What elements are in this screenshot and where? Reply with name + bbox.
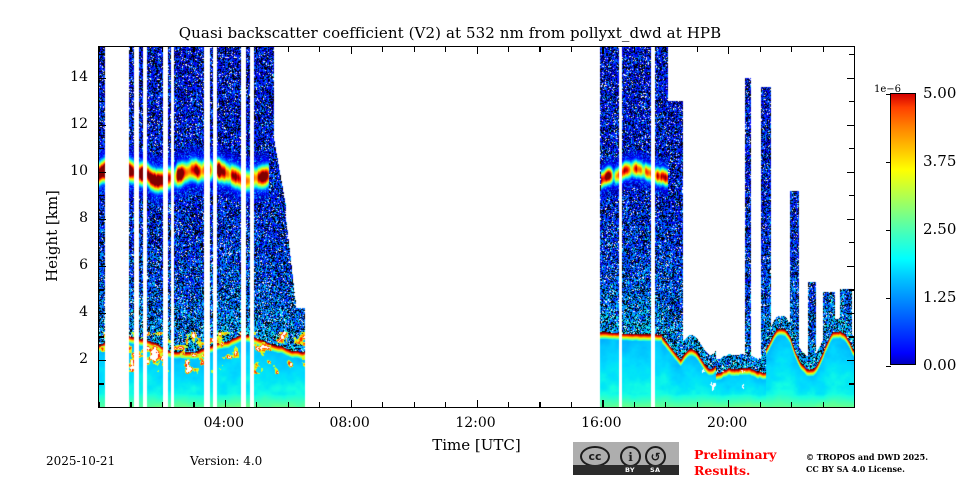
x-tick bbox=[823, 402, 824, 407]
y-tick bbox=[849, 289, 854, 290]
y-tick bbox=[849, 407, 854, 408]
cc-by-label: BY bbox=[625, 466, 635, 474]
y-tick-label: 12 bbox=[58, 116, 88, 132]
x-tick bbox=[634, 402, 635, 407]
x-tick bbox=[728, 400, 729, 407]
colorbar-tick-label: 2.50 bbox=[923, 220, 956, 238]
y-tick bbox=[849, 148, 854, 149]
x-tick bbox=[445, 402, 446, 407]
preliminary-results-notice: Preliminary Results. bbox=[694, 447, 804, 478]
x-tick-label: 12:00 bbox=[455, 415, 495, 431]
colorbar-tick-label: 3.75 bbox=[923, 152, 956, 170]
y-tick bbox=[99, 54, 104, 55]
x-tick bbox=[728, 47, 729, 54]
x-tick bbox=[351, 400, 352, 407]
colorbar-tick-label: 5.00 bbox=[923, 84, 956, 102]
x-tick bbox=[508, 47, 509, 52]
y-tick bbox=[99, 313, 106, 314]
y-tick bbox=[99, 101, 104, 102]
y-tick-label: 10 bbox=[58, 163, 88, 179]
x-tick-label: 08:00 bbox=[329, 415, 369, 431]
x-tick bbox=[760, 402, 761, 407]
copyright-notice: © TROPOS and DWD 2025. CC BY SA 4.0 Lice… bbox=[806, 452, 928, 475]
y-tick bbox=[849, 101, 854, 102]
x-tick bbox=[854, 402, 855, 407]
colorbar-tick bbox=[886, 366, 891, 367]
x-tick bbox=[162, 47, 163, 52]
x-tick bbox=[193, 47, 194, 52]
x-tick bbox=[445, 47, 446, 52]
copyright-line-1: © TROPOS and DWD 2025. bbox=[806, 452, 928, 464]
y-tick bbox=[849, 54, 854, 55]
y-tick bbox=[99, 407, 104, 408]
x-tick bbox=[225, 47, 226, 54]
y-tick bbox=[847, 125, 854, 126]
x-tick bbox=[602, 47, 603, 54]
creative-commons-icon: cc bbox=[580, 446, 610, 467]
x-tick-label: 04:00 bbox=[204, 415, 244, 431]
colorbar-tick bbox=[886, 298, 891, 299]
y-tick bbox=[849, 336, 854, 337]
y-tick bbox=[847, 219, 854, 220]
y-tick bbox=[99, 289, 104, 290]
x-tick bbox=[571, 47, 572, 52]
share-alike-icon: ↺ bbox=[645, 446, 666, 467]
y-tick bbox=[99, 242, 104, 243]
cc-sa-label: SA bbox=[650, 466, 660, 474]
y-tick bbox=[847, 360, 854, 361]
y-tick bbox=[849, 383, 854, 384]
x-tick bbox=[193, 402, 194, 407]
attribution-icon: ℹ bbox=[620, 446, 641, 467]
x-tick bbox=[571, 402, 572, 407]
y-tick-label: 4 bbox=[58, 304, 88, 320]
x-tick bbox=[288, 402, 289, 407]
y-tick bbox=[99, 219, 106, 220]
x-tick bbox=[382, 402, 383, 407]
y-tick bbox=[99, 148, 104, 149]
x-tick bbox=[319, 402, 320, 407]
x-tick bbox=[99, 47, 100, 52]
y-tick bbox=[847, 172, 854, 173]
y-tick bbox=[99, 360, 106, 361]
colorbar-tick bbox=[886, 230, 891, 231]
page-title: Quasi backscatter coefficient (V2) at 53… bbox=[0, 24, 900, 42]
y-tick bbox=[847, 313, 854, 314]
footer-date: 2025-10-21 bbox=[46, 454, 115, 468]
x-tick bbox=[539, 402, 540, 407]
y-tick bbox=[99, 172, 106, 173]
y-tick-label: 14 bbox=[58, 69, 88, 85]
y-tick bbox=[99, 336, 104, 337]
x-tick bbox=[162, 402, 163, 407]
y-tick-label: 6 bbox=[58, 257, 88, 273]
y-tick bbox=[849, 195, 854, 196]
x-tick bbox=[791, 47, 792, 52]
x-tick bbox=[602, 400, 603, 407]
x-tick bbox=[319, 47, 320, 52]
cc-badge-bar: BY SA bbox=[573, 465, 679, 475]
footer-version: Version: 4.0 bbox=[190, 454, 262, 468]
copyright-line-2: CC BY SA 4.0 License. bbox=[806, 464, 928, 476]
x-tick bbox=[225, 400, 226, 407]
y-tick-label: 8 bbox=[58, 210, 88, 226]
x-tick bbox=[414, 47, 415, 52]
heatmap-plot-area[interactable] bbox=[98, 46, 855, 408]
x-tick bbox=[130, 47, 131, 52]
x-tick bbox=[477, 400, 478, 407]
colorbar[interactable] bbox=[890, 93, 916, 365]
x-tick bbox=[414, 402, 415, 407]
x-tick bbox=[697, 47, 698, 52]
colorbar-tick-label: 0.00 bbox=[923, 356, 956, 374]
x-tick bbox=[791, 402, 792, 407]
x-tick bbox=[382, 47, 383, 52]
x-tick bbox=[130, 402, 131, 407]
lidar-quicklook-figure: Quasi backscatter coefficient (V2) at 53… bbox=[0, 0, 960, 480]
y-tick bbox=[847, 78, 854, 79]
y-tick bbox=[847, 266, 854, 267]
x-tick bbox=[854, 47, 855, 52]
x-tick-label: 20:00 bbox=[707, 415, 747, 431]
x-tick bbox=[760, 47, 761, 52]
y-tick bbox=[849, 242, 854, 243]
x-tick bbox=[665, 47, 666, 52]
y-tick bbox=[99, 266, 106, 267]
x-tick bbox=[697, 402, 698, 407]
x-tick bbox=[634, 47, 635, 52]
x-tick bbox=[508, 402, 509, 407]
x-tick bbox=[288, 47, 289, 52]
x-tick bbox=[539, 47, 540, 52]
colorbar-tick bbox=[886, 94, 891, 95]
x-tick bbox=[256, 402, 257, 407]
y-axis-title: Height [km] bbox=[43, 156, 61, 316]
x-tick bbox=[477, 47, 478, 54]
colorbar-tick bbox=[886, 162, 891, 163]
x-tick bbox=[665, 402, 666, 407]
y-tick bbox=[99, 383, 104, 384]
y-tick-label: 2 bbox=[58, 351, 88, 367]
y-tick bbox=[99, 195, 104, 196]
cc-license-badge[interactable]: cc ℹ ↺ BY SA bbox=[573, 442, 679, 475]
x-tick-label: 16:00 bbox=[581, 415, 621, 431]
y-tick bbox=[99, 78, 106, 79]
x-tick bbox=[256, 47, 257, 52]
colorbar-tick-label: 1.25 bbox=[923, 288, 956, 306]
heatmap-canvas bbox=[99, 47, 854, 407]
x-tick bbox=[823, 47, 824, 52]
x-tick bbox=[351, 47, 352, 54]
y-tick bbox=[99, 125, 106, 126]
